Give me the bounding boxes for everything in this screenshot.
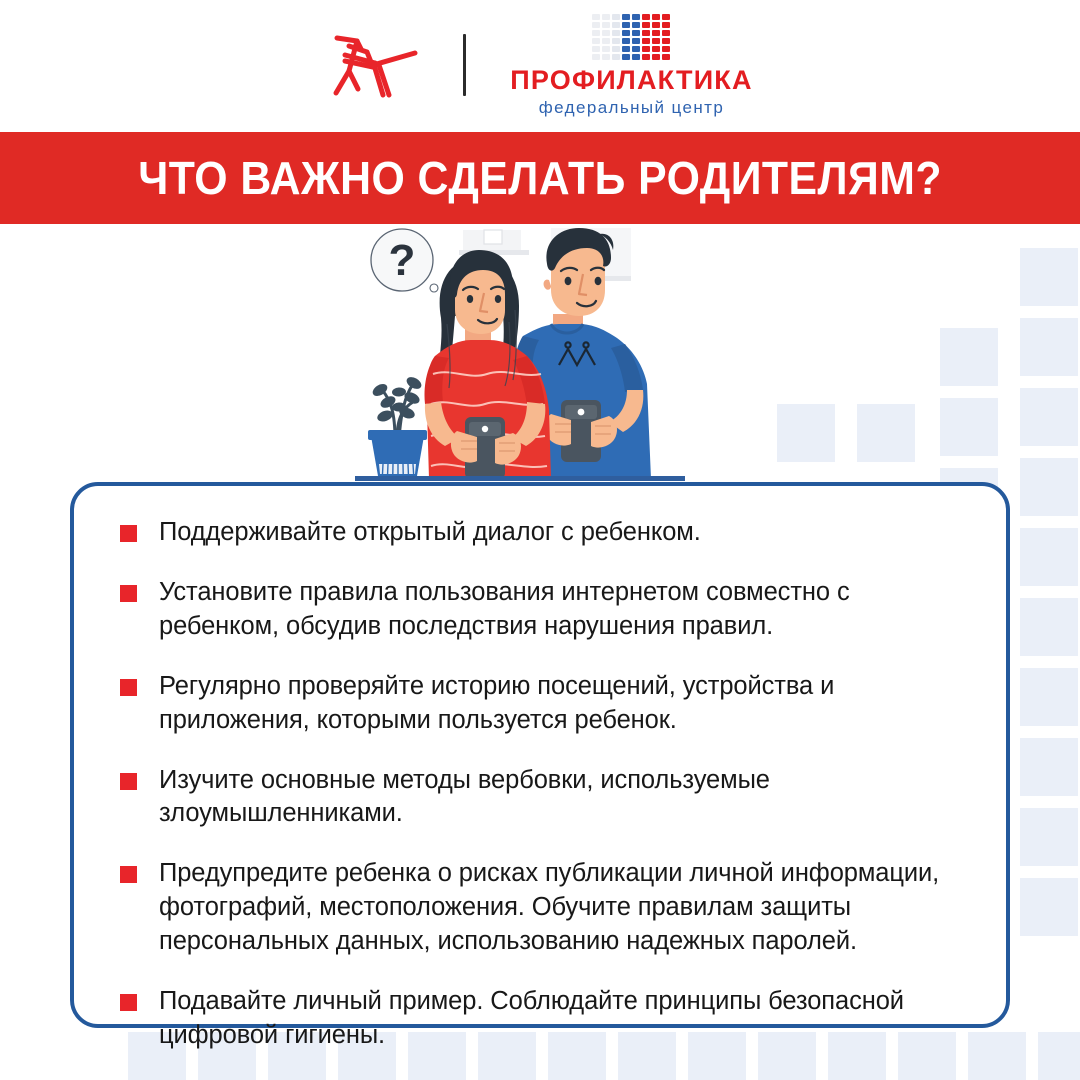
logo-grid-cell — [662, 14, 670, 20]
list-item-text: Регулярно проверяйте историю посещений, … — [159, 670, 960, 738]
logo-grid-cell — [612, 30, 620, 36]
logo-grid-cell — [632, 46, 640, 52]
svg-text:?: ? — [389, 236, 416, 285]
logo-grid-cell — [632, 14, 640, 20]
recommendations-list: Поддерживайте открытый диалог с ребенком… — [120, 516, 960, 1053]
brand-subtitle: федеральный центр — [539, 99, 724, 116]
decorative-square — [1020, 458, 1078, 516]
logo-grid-cell — [642, 22, 650, 28]
logo-grid-cell — [612, 14, 620, 20]
page-title: ЧТО ВАЖНО СДЕЛАТЬ РОДИТЕЛЯМ? — [138, 151, 942, 205]
logo-grid-cell — [612, 46, 620, 52]
title-banner: ЧТО ВАЖНО СДЕЛАТЬ РОДИТЕЛЯМ? — [0, 132, 1080, 224]
logo-grid-cell — [652, 14, 660, 20]
decorative-square — [1020, 318, 1078, 376]
bottom-square-strip — [0, 1028, 1080, 1080]
logo-grid-cell — [652, 30, 660, 36]
logo-grid-cell — [602, 14, 610, 20]
logo-grid-cell — [642, 38, 650, 44]
list-item: Поддерживайте открытый диалог с ребенком… — [120, 516, 960, 550]
illustration-svg: ? — [355, 224, 685, 486]
logo-grid-cell — [622, 46, 630, 52]
bullet-square-icon — [120, 585, 137, 602]
bullet-square-icon — [120, 773, 137, 790]
decorative-square — [777, 404, 835, 462]
logo-grid-cell — [602, 46, 610, 52]
header: ПРОФИЛАКТИКА федеральный центр — [0, 0, 1080, 130]
logo-grid-cell — [632, 30, 640, 36]
logo-grid-cell — [662, 54, 670, 60]
decorative-square — [1020, 528, 1078, 586]
logo-grid-cell — [652, 22, 660, 28]
profilaktika-brand: ПРОФИЛАКТИКА федеральный центр — [510, 14, 752, 116]
logo-grid-cell — [602, 54, 610, 60]
logo-grid-cell — [642, 54, 650, 60]
logo-grid-cell — [622, 14, 630, 20]
decorative-square — [857, 404, 915, 462]
list-item-text: Изучите основные методы вербовки, исполь… — [159, 764, 960, 832]
logo-grid-cell — [662, 46, 670, 52]
list-item: Регулярно проверяйте историю посещений, … — [120, 670, 960, 738]
brand-lockup: ПРОФИЛАКТИКА федеральный центр — [327, 14, 752, 116]
brand-name: ПРОФИЛАКТИКА — [510, 67, 752, 94]
infographic-poster: ПРОФИЛАКТИКА федеральный центр ЧТО ВАЖНО… — [0, 0, 1080, 1080]
logo-grid-cell — [652, 46, 660, 52]
list-item: Изучите основные методы вербовки, исполь… — [120, 764, 960, 832]
logo-grid-cell — [622, 54, 630, 60]
logo-grid-cell — [632, 38, 640, 44]
logo-grid-cell — [652, 38, 660, 44]
logo-grid-cell — [592, 30, 600, 36]
decorative-square — [1020, 878, 1078, 936]
bullet-square-icon — [120, 866, 137, 883]
logo-grid-cell — [592, 14, 600, 20]
couple-with-smartphones-illustration: ? — [355, 224, 685, 486]
logo-grid-cell — [592, 54, 600, 60]
decorative-square — [1020, 598, 1078, 656]
logo-grid-cell — [612, 38, 620, 44]
logo-grid-cell — [642, 14, 650, 20]
list-item-text: Предупредите ребенка о рисках публикации… — [159, 857, 960, 959]
logo-grid-cell — [622, 38, 630, 44]
decorative-square — [1020, 248, 1078, 306]
logo-grid-cell — [622, 30, 630, 36]
decorative-square — [1020, 738, 1078, 796]
decorative-square — [1020, 808, 1078, 866]
bullet-square-icon — [120, 679, 137, 696]
logo-grid-cell — [652, 54, 660, 60]
logo-grid-cell — [632, 22, 640, 28]
logo-grid-cell — [632, 54, 640, 60]
bullet-square-icon — [120, 525, 137, 542]
logo-grid-cell — [592, 46, 600, 52]
list-item-text: Поддерживайте открытый диалог с ребенком… — [159, 516, 701, 550]
recommendations-card: Поддерживайте открытый диалог с ребенком… — [70, 482, 1010, 1028]
decorative-square — [940, 398, 998, 456]
logo-grid-cell — [622, 22, 630, 28]
logo-grid-cell — [592, 38, 600, 44]
list-item: Установите правила пользования интернето… — [120, 576, 960, 644]
horse-line-art-icon — [327, 29, 423, 101]
logo-grid-cell — [612, 22, 620, 28]
decorative-square — [1020, 388, 1078, 446]
table-line — [355, 476, 685, 481]
logo-grid-cell — [602, 22, 610, 28]
logo-grid-cell — [602, 30, 610, 36]
logo-grid-cell — [662, 38, 670, 44]
brand-divider — [463, 34, 466, 96]
grid-squares-logo-icon — [592, 14, 670, 60]
logo-grid-cell — [612, 54, 620, 60]
logo-grid-cell — [642, 30, 650, 36]
logo-grid-cell — [602, 38, 610, 44]
logo-grid-cell — [592, 22, 600, 28]
bullet-square-icon — [120, 994, 137, 1011]
logo-grid-cell — [662, 30, 670, 36]
list-item: Предупредите ребенка о рисках публикации… — [120, 857, 960, 959]
logo-grid-cell — [642, 46, 650, 52]
logo-grid-cell — [662, 22, 670, 28]
decorative-square — [1020, 668, 1078, 726]
list-item-text: Установите правила пользования интернето… — [159, 576, 960, 644]
decorative-square — [940, 328, 998, 386]
